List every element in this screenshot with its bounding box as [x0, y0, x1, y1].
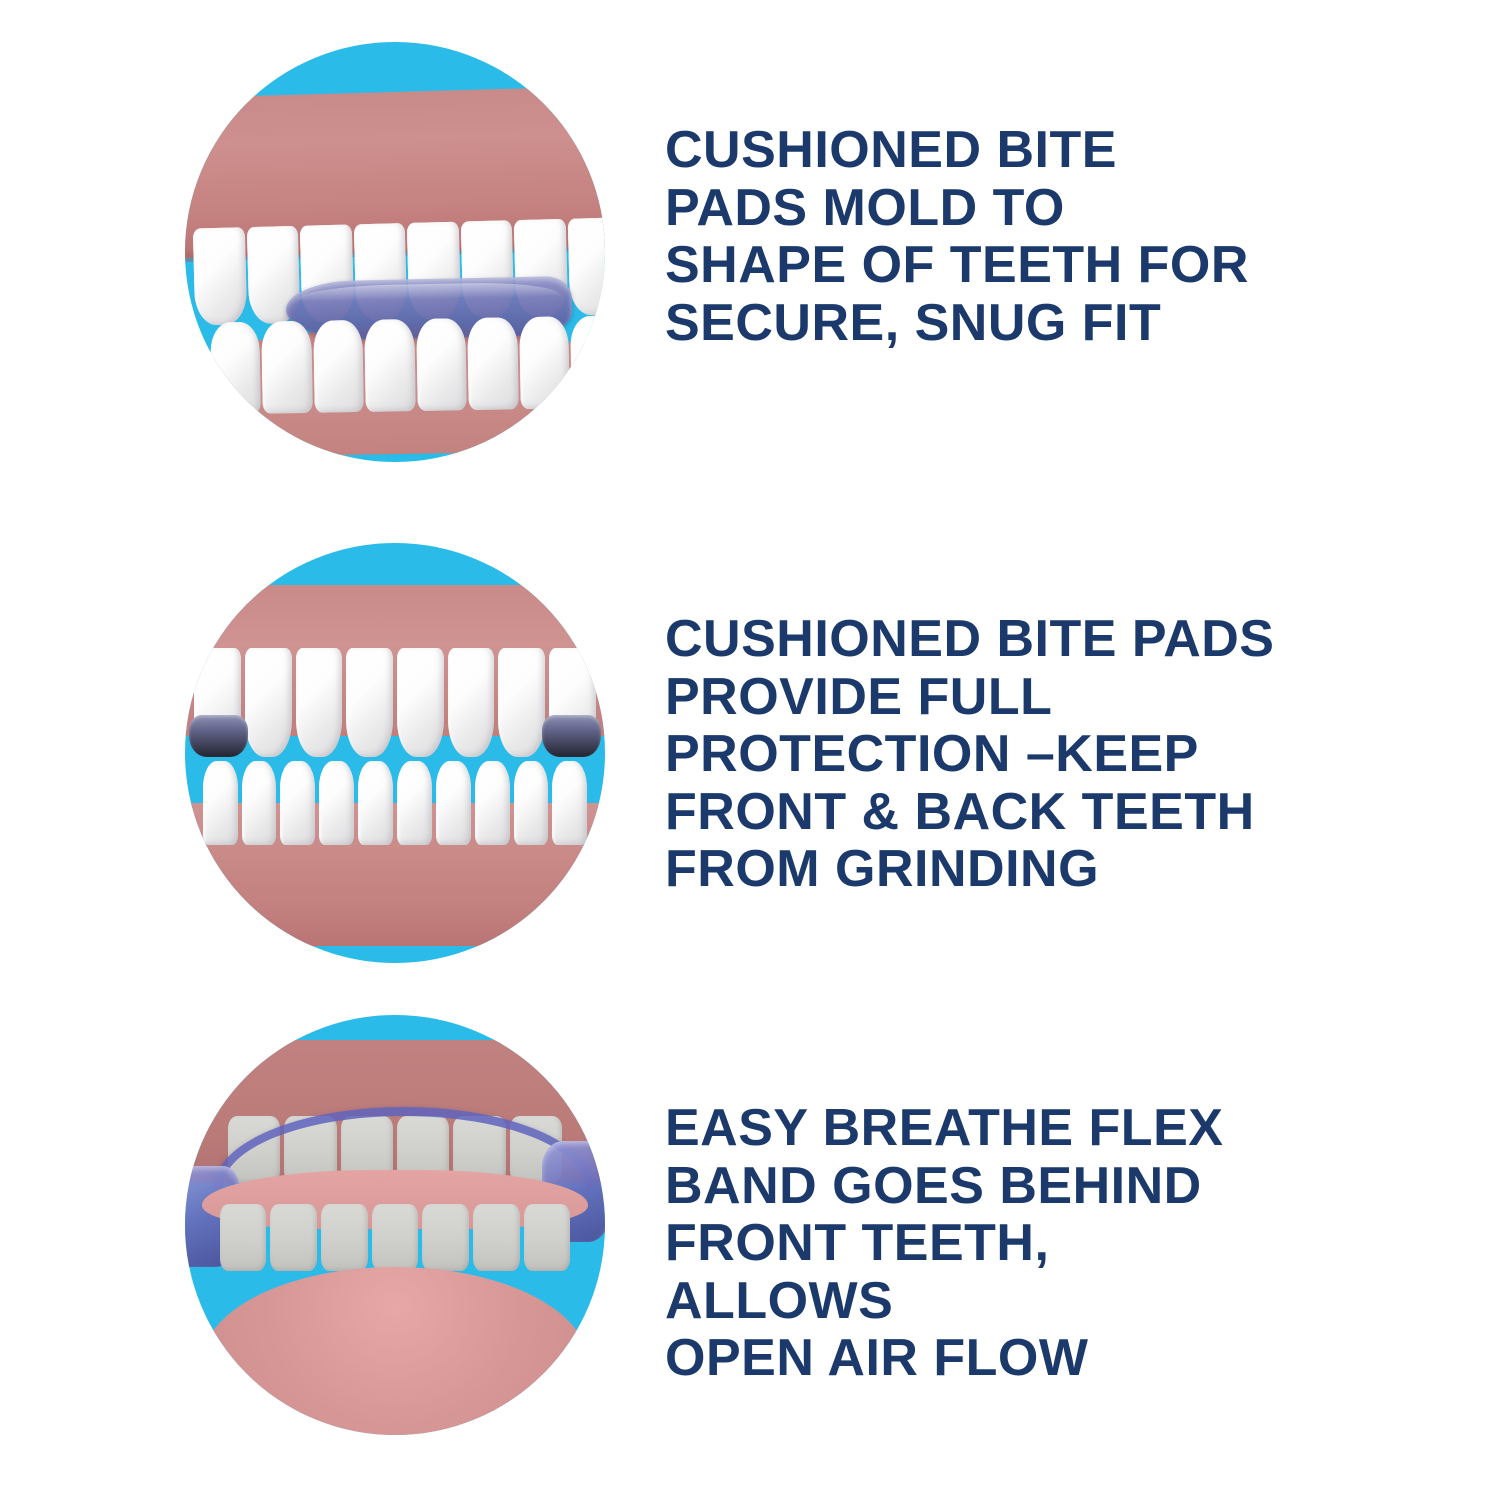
tooth [519, 317, 570, 410]
tooth [296, 648, 343, 757]
tooth [193, 227, 247, 325]
tooth [270, 1204, 317, 1271]
teeth-front-view-with-bite-pads-illustration [185, 543, 605, 963]
tooth [262, 321, 313, 414]
tooth [365, 319, 416, 412]
tooth [319, 761, 354, 845]
tooth [498, 648, 545, 757]
tooth [245, 648, 292, 757]
tooth [514, 761, 549, 845]
tooth [321, 1204, 368, 1271]
tooth [468, 317, 519, 410]
tooth [242, 761, 277, 845]
bite-pad-right [542, 715, 601, 757]
tooth [313, 320, 364, 413]
bite-pad-left [189, 715, 248, 757]
tooth [210, 322, 261, 415]
feature-headline-3: EASY BREATHE FLEX BAND GOES BEHIND FRONT… [665, 1100, 1285, 1388]
teeth-side-view-with-mouthguard-illustration [185, 42, 605, 462]
tooth [571, 316, 605, 409]
tooth [436, 761, 471, 845]
tooth [473, 1204, 520, 1271]
tooth [358, 761, 393, 845]
infographic-page: CUSHIONED BITE PADS MOLD TO SHAPE OF TEE… [0, 0, 1500, 1500]
tooth [220, 1204, 267, 1271]
tooth [552, 761, 587, 845]
lower-teeth-inner-row [219, 1204, 572, 1271]
tooth [524, 1204, 571, 1271]
feature-row-3: EASY BREATHE FLEX BAND GOES BEHIND FRONT… [0, 1015, 1500, 1445]
upper-teeth-row [193, 648, 596, 757]
tooth [568, 217, 605, 315]
tooth [448, 648, 495, 757]
tooth [475, 761, 510, 845]
tooth [397, 648, 444, 757]
lower-teeth-row [209, 316, 605, 416]
teeth-interior-view-with-flex-band-illustration [185, 1015, 605, 1435]
tongue [202, 1267, 588, 1435]
tooth [372, 1204, 419, 1271]
feature-row-1: CUSHIONED BITE PADS MOLD TO SHAPE OF TEE… [0, 42, 1500, 472]
feature-row-2: CUSHIONED BITE PADS PROVIDE FULL PROTECT… [0, 543, 1500, 973]
lower-teeth-row [202, 761, 588, 845]
tooth [203, 761, 238, 845]
feature-headline-2: CUSHIONED BITE PADS PROVIDE FULL PROTECT… [665, 611, 1285, 899]
tooth [280, 761, 315, 845]
tooth [422, 1204, 469, 1271]
tooth [346, 648, 393, 757]
tooth [416, 318, 467, 411]
feature-headline-1: CUSHIONED BITE PADS MOLD TO SHAPE OF TEE… [665, 122, 1285, 352]
tooth [397, 761, 432, 845]
